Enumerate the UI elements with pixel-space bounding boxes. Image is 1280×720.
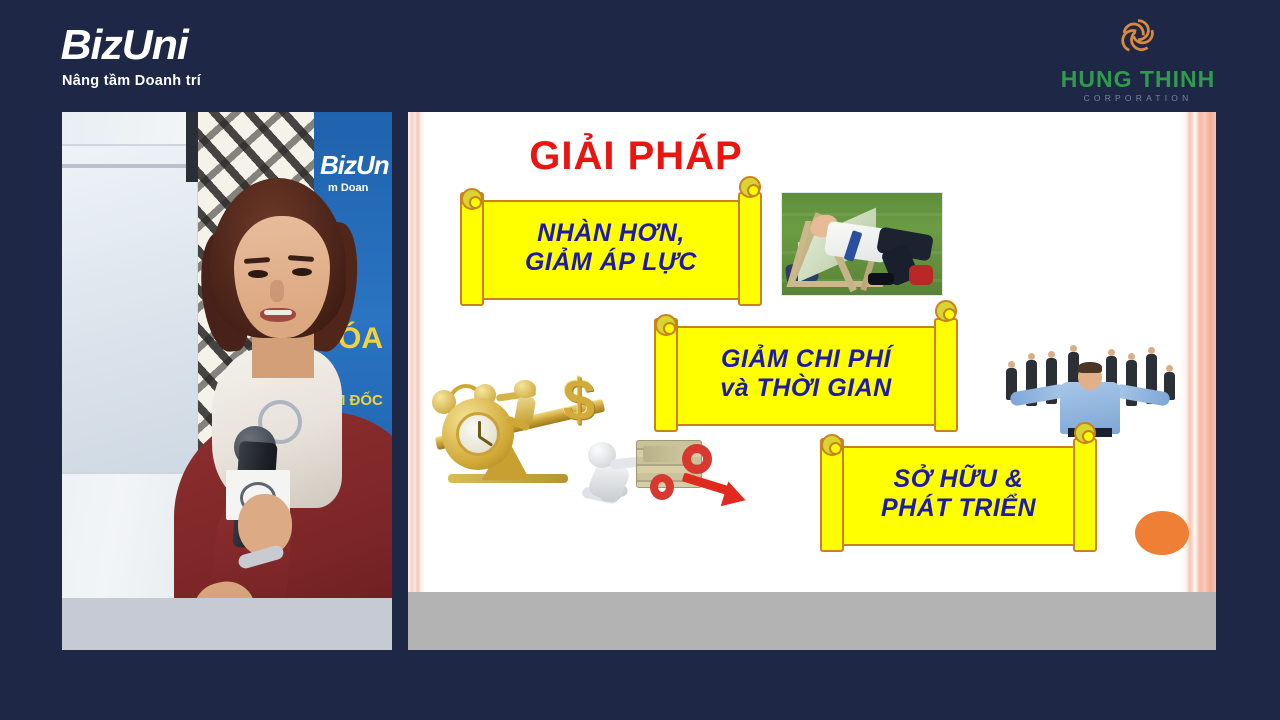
image-figure-pushing-money: [578, 428, 748, 528]
speaker-mouth: [260, 308, 296, 322]
scroll-text-line-1: GIẢM CHI PHÍ: [650, 345, 962, 374]
scroll-nhan-hon: NHÀN HƠN, GIẢM ÁP LỰC: [456, 190, 766, 306]
video-bottom-bar: [62, 598, 392, 650]
scroll-text: GIẢM CHI PHÍ và THỜI GIAN: [650, 345, 962, 403]
bizuni-wordmark: BizUni: [61, 22, 203, 68]
banner-line-2: m Doan: [328, 182, 368, 194]
hung-thinh-logo: HUNG THINH CORPORATION: [1058, 12, 1218, 103]
team-leader-head: [1078, 364, 1102, 390]
video-scene: BizUn m Doan ÓA ÁM ĐỐC OAN: [62, 112, 392, 598]
bizuni-logo: BizUni Nâng tầm Doanh trí: [62, 22, 201, 89]
scroll-text: SỞ HỮU & PHÁT TRIỂN: [816, 465, 1101, 523]
bag-red: [909, 265, 933, 285]
slide-bottom-bar: [408, 592, 1216, 650]
cart-wheel-upper: [682, 444, 712, 474]
scroll-curl-right: [739, 176, 761, 198]
scroll-text-line-1: SỞ HỮU &: [816, 465, 1101, 494]
scroll-curl-left: [461, 188, 483, 210]
page-header: BizUni Nâng tầm Doanh trí HUNG THINH COR…: [0, 0, 1280, 112]
slide-stripe-left: [408, 112, 424, 592]
scroll-curl-right: [1074, 422, 1096, 444]
slide-title: GIẢI PHÁP: [456, 134, 816, 179]
flower-pinwheel-icon: [1112, 12, 1164, 64]
scroll-giam-chi-phi: GIẢM CHI PHÍ và THỜI GIAN: [650, 316, 962, 432]
hung-thinh-name: HUNG THINH: [1058, 67, 1218, 91]
slide-stripe-right: [1180, 112, 1216, 592]
scroll-text-line-2: PHÁT TRIỂN: [816, 494, 1101, 523]
speaker-eye-left: [248, 270, 268, 278]
scroll-curl-left: [655, 314, 677, 336]
relaxing-man-shoe: [868, 273, 894, 285]
dollar-sign-icon: $: [554, 372, 604, 430]
speaker-video-feed[interactable]: BizUn m Doan ÓA ÁM ĐỐC OAN: [62, 112, 392, 650]
scroll-text: NHÀN HƠN, GIẢM ÁP LỰC: [456, 219, 766, 277]
scroll-text-line-2: GIẢM ÁP LỰC: [456, 248, 766, 277]
banner-line-1: BizUn: [320, 150, 389, 181]
whiteboard: [62, 144, 199, 474]
scroll-text-line-1: NHÀN HƠN,: [456, 219, 766, 248]
scroll-so-huu: SỞ HỮU & PHÁT TRIỂN: [816, 436, 1101, 552]
scroll-curl-left: [821, 434, 843, 456]
cart-wheel-lower: [650, 474, 674, 500]
scroll-curl-right: [935, 300, 957, 322]
scroll-text-line-2: và THỜI GIAN: [650, 374, 962, 403]
speaker-eye-right: [292, 268, 312, 276]
presentation-slide[interactable]: GIẢI PHÁP: [408, 112, 1216, 650]
speaker-nose: [270, 280, 284, 302]
alarm-clock: [442, 398, 514, 470]
orange-accent-dot: [1135, 511, 1189, 555]
bizuni-tagline: Nâng tầm Doanh trí: [62, 73, 201, 89]
golden-figure-head: [514, 380, 536, 398]
speaker-hand-upper: [238, 494, 292, 556]
hung-thinh-subtitle: CORPORATION: [1058, 93, 1218, 103]
alarm-clock-face: [456, 412, 500, 456]
photo-man-relaxing-deckchair: [781, 192, 943, 296]
